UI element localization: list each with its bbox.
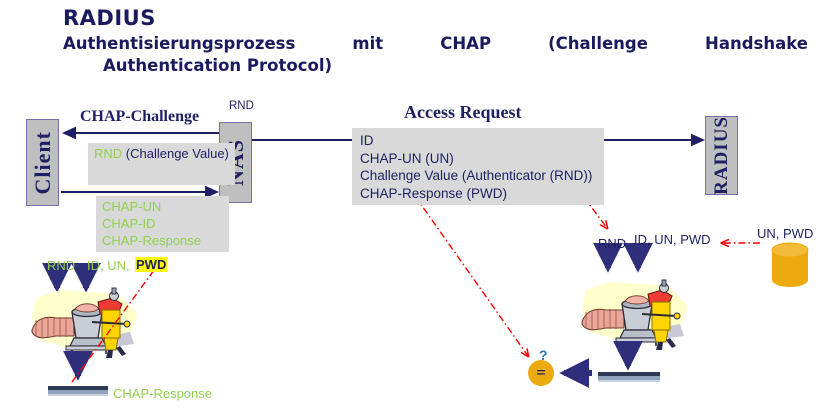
access-request-item: CHAP-UN (UN) (360, 150, 592, 168)
label-id-un-client-side: ID, UN, (87, 258, 130, 273)
access-request-item: ID (360, 132, 592, 150)
red-link-chap-response-to-pwd (72, 262, 160, 382)
label-rnd-client-side: RND (47, 258, 75, 273)
subtitle-line2: Authentication Protocol) (63, 55, 808, 77)
database-cylinder-icon (772, 243, 808, 287)
node-radius-label: RADIUS (711, 116, 733, 195)
label-rnd-over-nas: RND (229, 100, 254, 112)
chap-field-item: CHAP-ID (102, 215, 201, 232)
status-badge-equals: = (528, 360, 554, 386)
label-id-un-pwd-server-side: ID, UN, PWD (634, 232, 711, 247)
heading-access-request: Access Request (404, 102, 521, 123)
subtitle-word: mit (352, 33, 383, 55)
text-access-request-fields: ID CHAP-UN (UN) Challenge Value (Authent… (360, 132, 592, 202)
red-link-request-to-equals (415, 196, 528, 356)
label-un-pwd-database: UN, PWD (757, 226, 813, 241)
subtitle-word: (Challenge (548, 33, 648, 55)
page-subtitle: Authentisierungsprozess mit CHAP (Challe… (63, 33, 808, 77)
subtitle-word: Handshake (705, 33, 808, 55)
challenge-rnd-token: RND (94, 146, 122, 161)
chap-field-item: CHAP-Response (102, 232, 201, 249)
hash-grinder-icon (32, 288, 138, 358)
access-request-item: Challenge Value (Authenticator (RND)) (360, 167, 592, 185)
subtitle-word: Authentisierungsprozess (63, 33, 295, 55)
label-pwd-highlighted: PWD (135, 257, 167, 272)
text-chap-fields: CHAP-UN CHAP-ID CHAP-Response (102, 198, 201, 249)
label-chap-response-output: CHAP-Response (113, 386, 212, 401)
hash-output-bar-icon (48, 386, 108, 396)
chap-field-item: CHAP-UN (102, 198, 201, 215)
challenge-rest-text: (Challenge Value) (122, 146, 229, 161)
node-client[interactable]: Client (26, 119, 59, 206)
heading-chap-challenge: CHAP-Challenge (80, 108, 199, 126)
node-radius[interactable]: RADIUS (705, 116, 738, 195)
subtitle-word: CHAP (440, 33, 491, 55)
hash-grinder-icon (582, 280, 688, 350)
text-challenge-value: RND (Challenge Value) (94, 146, 234, 162)
hash-output-bar-icon (598, 372, 660, 382)
access-request-item: CHAP-Response (PWD) (360, 185, 592, 203)
page-title: RADIUS (63, 6, 156, 30)
node-client-label: Client (30, 131, 56, 194)
label-rnd-server-side: RND (598, 236, 626, 251)
